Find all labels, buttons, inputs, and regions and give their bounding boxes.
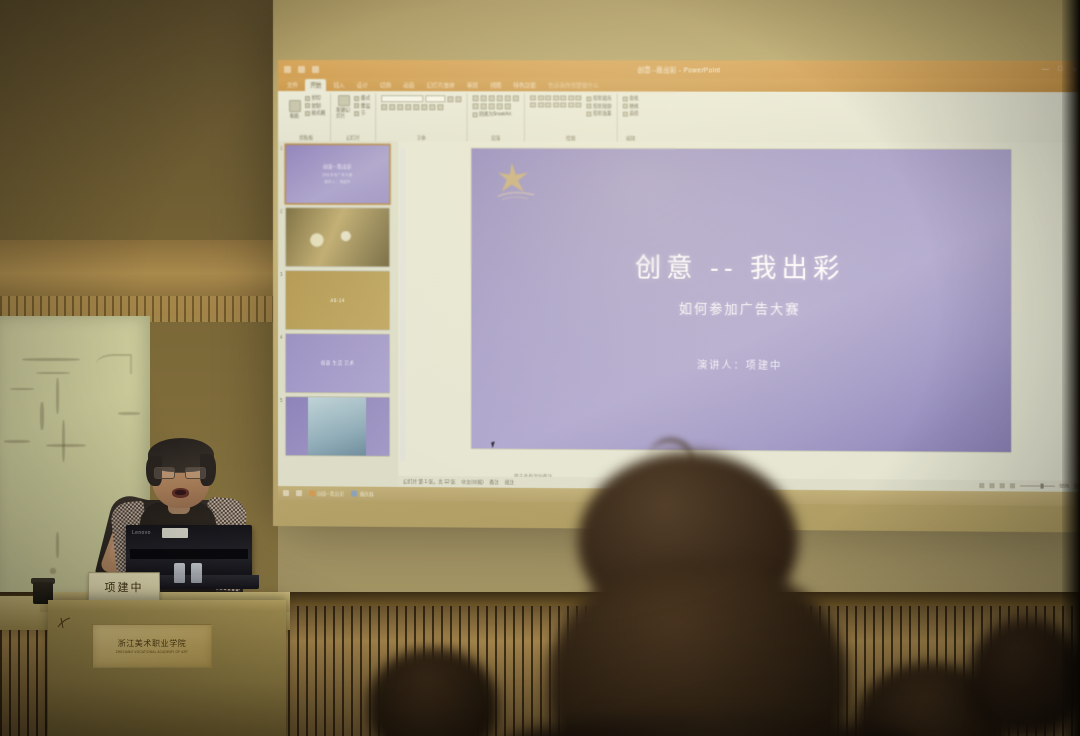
new-slide-button[interactable]: 新建幻灯片 bbox=[336, 95, 351, 119]
shape-banner-icon[interactable] bbox=[537, 102, 543, 107]
columns-icon[interactable] bbox=[505, 103, 511, 109]
shape-arc-icon[interactable] bbox=[568, 102, 574, 107]
comments-toggle[interactable]: 批注 bbox=[505, 479, 514, 485]
text-direction-icon[interactable] bbox=[513, 95, 519, 101]
thumb-number-3: 3 bbox=[280, 272, 283, 277]
eyeglasses-icon bbox=[154, 467, 208, 479]
thumb-number-1: 1 bbox=[280, 146, 283, 151]
shape-line-icon[interactable] bbox=[537, 95, 543, 100]
current-slide[interactable]: 创意 -- 我出彩 如何参加广告大赛 演讲人：项建中 bbox=[471, 148, 1010, 452]
podium: 浙江美术职业学院 ZHEJIANG VOCATIONAL ACADEMY OF … bbox=[48, 600, 286, 736]
replace-icon bbox=[623, 104, 628, 109]
thumbnail-slide-3[interactable]: A9-14 bbox=[286, 271, 389, 330]
justify-icon[interactable] bbox=[497, 103, 503, 109]
section-icon bbox=[354, 111, 359, 116]
shape-outline-button[interactable]: 形状轮廓 bbox=[586, 103, 611, 109]
minimize-button[interactable]: — bbox=[1042, 66, 1049, 74]
bold-icon[interactable] bbox=[381, 104, 387, 110]
brush-stroke-logo-icon bbox=[57, 616, 71, 628]
smartart-icon bbox=[473, 112, 478, 117]
plaque-chinese-name: 浙江美术职业学院 bbox=[118, 638, 187, 649]
sorter-view-icon[interactable] bbox=[989, 483, 994, 488]
laptop-hinge bbox=[130, 549, 248, 559]
ribbon-group-slides: 新建幻灯片 版式 重设 节 幻灯片 bbox=[331, 93, 376, 141]
change-case-icon[interactable] bbox=[429, 104, 435, 110]
taskbar-explorer[interactable] bbox=[296, 490, 302, 496]
paste-button[interactable]: 粘贴 bbox=[287, 95, 302, 119]
reset-button[interactable]: 重设 bbox=[354, 103, 370, 109]
thumb1-title: 创意--我出彩 bbox=[323, 164, 352, 170]
underline-icon[interactable] bbox=[397, 104, 403, 110]
folder-icon bbox=[296, 490, 302, 496]
start-icon bbox=[283, 490, 289, 496]
laptop-brand-label: Lenovo bbox=[132, 530, 151, 536]
shape-more-icon[interactable] bbox=[575, 95, 581, 100]
star-logo-icon bbox=[493, 159, 555, 205]
nameplate-text: 项建中 bbox=[104, 579, 143, 595]
paste-icon bbox=[289, 100, 301, 112]
shape-plus-icon[interactable] bbox=[575, 102, 581, 107]
tell-me-search[interactable]: 告诉我你想要做什么 bbox=[543, 79, 604, 91]
convert-to-smartart-button[interactable]: 转换为SmartArt bbox=[473, 111, 512, 117]
shape-gallery[interactable] bbox=[530, 95, 581, 107]
copy-icon bbox=[305, 103, 310, 108]
layout-button[interactable]: 版式 bbox=[354, 95, 370, 101]
podium-plaque: 浙江美术职业学院 ZHEJIANG VOCATIONAL ACADEMY OF … bbox=[92, 624, 212, 668]
shape-curve-icon[interactable] bbox=[553, 102, 559, 107]
copy-button[interactable]: 复制 bbox=[305, 103, 325, 109]
lecture-hall-photo: 创意--我出彩 - PowerPoint — □ ✕ 文件 开始 插入 设计 切… bbox=[0, 0, 1080, 736]
format-painter-button[interactable]: 格式刷 bbox=[305, 110, 325, 116]
new-slide-icon bbox=[338, 95, 350, 106]
shape-flow-icon[interactable] bbox=[545, 102, 551, 107]
water-bottle-1 bbox=[174, 563, 185, 583]
right-dark-edge bbox=[1062, 0, 1080, 736]
grow-font-icon[interactable] bbox=[447, 96, 453, 102]
increase-indent-icon[interactable] bbox=[497, 95, 503, 101]
find-button[interactable]: 查找 bbox=[623, 96, 639, 102]
shape-star-icon[interactable] bbox=[568, 95, 574, 100]
effects-icon bbox=[586, 111, 591, 116]
tab-features[interactable]: 特色功能 bbox=[508, 79, 541, 91]
ribbon: 粘贴 剪切 复制 格式刷 剪贴板 新建幻灯片 bbox=[278, 91, 1080, 143]
section-button[interactable]: 节 bbox=[354, 110, 370, 116]
layout-icon bbox=[354, 96, 359, 101]
tab-slideshow[interactable]: 幻灯片放映 bbox=[422, 79, 460, 91]
taskbar-start[interactable] bbox=[283, 490, 289, 496]
nameplate: 项建中 bbox=[88, 572, 160, 602]
thumb1-presenter: 演讲人：项建中 bbox=[324, 179, 351, 184]
align-left-icon[interactable] bbox=[473, 103, 479, 109]
tab-animations[interactable]: 动画 bbox=[398, 79, 419, 91]
tab-insert[interactable]: 插入 bbox=[328, 79, 349, 91]
outline-icon bbox=[586, 104, 591, 109]
tab-file[interactable]: 文件 bbox=[282, 79, 303, 91]
zoom-slider[interactable] bbox=[1020, 485, 1055, 486]
window-title: 创意--我出彩 - PowerPoint bbox=[278, 64, 1080, 75]
thumbnail-slide-4[interactable]: 创意 生活 艺术 bbox=[286, 334, 389, 393]
media-player-icon bbox=[351, 491, 357, 497]
ribbon-group-clipboard: 粘贴 剪切 复制 格式刷 剪贴板 bbox=[282, 93, 331, 141]
tab-home[interactable]: 开始 bbox=[305, 79, 326, 91]
thumb5-photo bbox=[308, 397, 366, 455]
slideshow-icon[interactable] bbox=[1009, 483, 1014, 488]
shape-arrow-icon[interactable] bbox=[545, 95, 551, 100]
ribbon-tabs: 文件 开始 插入 设计 切换 动画 幻灯片放映 审阅 视图 特色功能 告诉我你想… bbox=[278, 78, 1080, 92]
shrink-font-icon[interactable] bbox=[455, 96, 461, 102]
ribbon-group-editing: 查找 替换 选择 编辑 bbox=[618, 94, 644, 142]
tab-design[interactable]: 设计 bbox=[352, 79, 373, 91]
slide-title: 创意 -- 我出彩 bbox=[471, 247, 1010, 286]
thumb-number-2: 2 bbox=[280, 209, 283, 214]
tab-transitions[interactable]: 切换 bbox=[375, 79, 396, 91]
ribbon-group-drawing: 形状填充 形状轮廓 形状效果 绘图 bbox=[525, 93, 618, 141]
thumbnail-slide-5[interactable] bbox=[286, 397, 389, 456]
vertical-ruler bbox=[400, 147, 405, 461]
shape-freeform-icon[interactable] bbox=[560, 102, 566, 107]
select-icon bbox=[623, 111, 628, 116]
slide-subtitle: 如何参加广告大赛 bbox=[471, 297, 1010, 319]
thumb1-subtitle: 如何参加广告大赛 bbox=[322, 172, 352, 177]
font-size-input[interactable] bbox=[425, 95, 445, 102]
thumbnail-slide-1[interactable]: 创意--我出彩 如何参加广告大赛 演讲人：项建中 bbox=[286, 145, 389, 203]
shadow-icon[interactable] bbox=[405, 104, 411, 110]
slide-thumbnail-rail[interactable]: 1 创意--我出彩 如何参加广告大赛 演讲人：项建中 2 3 A9-14 4 bbox=[278, 141, 398, 501]
bullets-icon[interactable] bbox=[473, 95, 479, 101]
character-spacing-icon[interactable] bbox=[421, 104, 427, 110]
scissors-icon bbox=[305, 96, 310, 101]
slide-indicator: 幻灯片 第 1 张，共 12 张 bbox=[403, 478, 455, 484]
reading-view-icon[interactable] bbox=[999, 483, 1004, 488]
shape-oval-icon[interactable] bbox=[553, 95, 559, 100]
fill-icon bbox=[586, 96, 591, 101]
select-button[interactable]: 选择 bbox=[623, 111, 639, 117]
glasses-bridge bbox=[175, 472, 185, 473]
language-indicator[interactable]: 中文(中国) bbox=[461, 479, 483, 485]
reset-icon bbox=[354, 103, 359, 108]
powerpoint-icon bbox=[309, 490, 315, 496]
cut-button[interactable]: 剪切 bbox=[305, 95, 325, 101]
shape-callout-icon[interactable] bbox=[530, 102, 536, 107]
tab-view[interactable]: 视图 bbox=[485, 79, 506, 91]
brush-icon bbox=[305, 111, 310, 116]
thumb3-text: A9-14 bbox=[330, 298, 344, 303]
thumb2-photo bbox=[286, 208, 389, 266]
thumb-number-5: 5 bbox=[280, 398, 283, 403]
notes-toggle[interactable]: 备注 bbox=[489, 479, 498, 485]
window-titlebar: 创意--我出彩 - PowerPoint — □ ✕ bbox=[278, 60, 1080, 79]
ribbon-group-font: 字体 bbox=[376, 93, 467, 141]
normal-view-icon[interactable] bbox=[979, 483, 984, 488]
taskbar-powerpoint[interactable]: 创意--我出彩 bbox=[309, 490, 344, 497]
mouse-cursor-icon bbox=[491, 441, 499, 449]
shape-rect-icon[interactable] bbox=[530, 95, 536, 100]
shape-triangle-icon[interactable] bbox=[560, 95, 566, 100]
taskbar-media-player[interactable]: 播放器 bbox=[351, 490, 373, 497]
italic-icon[interactable] bbox=[389, 104, 395, 110]
speaker-mouth-inner bbox=[175, 490, 186, 495]
thumbnail-slide-2[interactable] bbox=[286, 208, 389, 266]
plaque-english-name: ZHEJIANG VOCATIONAL ACADEMY OF ART bbox=[116, 650, 188, 654]
laptop-sticker bbox=[162, 528, 188, 538]
thumb4-text: 创意 生活 艺术 bbox=[321, 360, 354, 366]
align-right-icon[interactable] bbox=[489, 103, 495, 109]
lens-right bbox=[185, 467, 206, 479]
lens-left bbox=[154, 467, 175, 479]
shape-fill-button[interactable]: 形状填充 bbox=[586, 95, 611, 101]
strikethrough-icon[interactable] bbox=[413, 104, 419, 110]
decrease-indent-icon[interactable] bbox=[489, 95, 495, 101]
water-bottle-2 bbox=[191, 563, 202, 583]
replace-button[interactable]: 替换 bbox=[623, 103, 639, 109]
slide-presenter: 演讲人：项建中 bbox=[471, 355, 1010, 373]
ribbon-group-paragraph: 转换为SmartArt 段落 bbox=[468, 93, 525, 141]
thumb-number-4: 4 bbox=[280, 335, 283, 340]
numbering-icon[interactable] bbox=[481, 95, 487, 101]
tab-review[interactable]: 审阅 bbox=[462, 79, 483, 91]
align-center-icon[interactable] bbox=[481, 103, 487, 109]
font-color-icon[interactable] bbox=[437, 104, 443, 110]
font-name-input[interactable] bbox=[381, 95, 423, 102]
line-spacing-icon[interactable] bbox=[505, 95, 511, 101]
slide-editor[interactable]: 创意 -- 我出彩 如何参加广告大赛 演讲人：项建中 单击此处添加备注 幻灯片 … bbox=[398, 141, 1080, 506]
shape-effects-button[interactable]: 形状效果 bbox=[586, 111, 611, 117]
search-icon bbox=[623, 96, 628, 101]
zoom-knob[interactable] bbox=[1040, 484, 1043, 489]
